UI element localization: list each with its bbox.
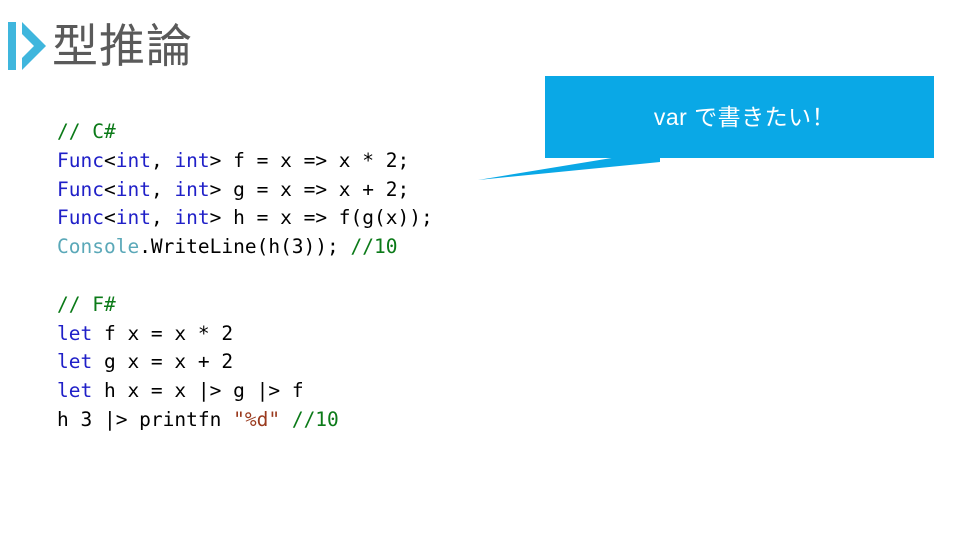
code-line: // F# — [57, 291, 433, 320]
code-token-plain: > f = x => x * 2; — [210, 149, 410, 172]
code-token-plain: > g = x => x + 2; — [210, 178, 410, 201]
callout-bubble: var で書きたい！ — [545, 76, 934, 158]
code-token-type: Func — [57, 206, 104, 229]
code-token-plain: , — [151, 178, 174, 201]
play-chevron-logo-icon — [6, 19, 50, 73]
code-line: let h x = x |> g |> f — [57, 377, 433, 406]
slide-header: 型推論 — [0, 14, 193, 78]
code-token-plain: g x = x + 2 — [92, 350, 233, 373]
code-line: // C# — [57, 118, 433, 147]
code-token-class: Console — [57, 235, 139, 258]
code-token-plain — [280, 408, 292, 431]
code-token-plain: < — [104, 206, 116, 229]
code-block: // C#Func<int, int> f = x => x * 2;Func<… — [57, 118, 433, 435]
code-token-comment: //10 — [292, 408, 339, 431]
code-line: let f x = x * 2 — [57, 320, 433, 349]
code-token-plain: h x = x |> g |> f — [92, 379, 303, 402]
page-title: 型推論 — [52, 19, 193, 73]
code-token-type: Func — [57, 178, 104, 201]
code-token-keyword: let — [57, 379, 92, 402]
code-token-plain: < — [104, 178, 116, 201]
code-token-type: int — [116, 206, 151, 229]
code-line: Func<int, int> f = x => x * 2; — [57, 147, 433, 176]
code-token-string: "%d" — [233, 408, 280, 431]
code-token-type: int — [174, 206, 209, 229]
code-token-plain: < — [104, 149, 116, 172]
code-line: Console.WriteLine(h(3)); //10 — [57, 233, 433, 262]
callout-text: var で書きたい！ — [545, 103, 934, 131]
code-token-type: Func — [57, 149, 104, 172]
code-token-plain: f x = x * 2 — [92, 322, 233, 345]
code-token-plain: , — [151, 206, 174, 229]
code-line: h 3 |> printfn "%d" //10 — [57, 406, 433, 435]
code-token-plain: > h = x => f(g(x)); — [210, 206, 433, 229]
slide-canvas: 型推論 // C#Func<int, int> f = x => x * 2;F… — [0, 0, 960, 540]
code-token-comment: //10 — [351, 235, 398, 258]
code-line: Func<int, int> h = x => f(g(x)); — [57, 204, 433, 233]
code-token-keyword: let — [57, 350, 92, 373]
code-token-plain: , — [151, 149, 174, 172]
code-token-type: int — [174, 149, 209, 172]
code-token-comment: // F# — [57, 293, 116, 316]
code-token-type: int — [116, 149, 151, 172]
code-line: let g x = x + 2 — [57, 348, 433, 377]
code-line: Func<int, int> g = x => x + 2; — [57, 176, 433, 205]
code-token-keyword: let — [57, 322, 92, 345]
code-token-plain: h 3 |> printfn — [57, 408, 233, 431]
code-token-comment: // C# — [57, 120, 116, 143]
code-token-plain: .WriteLine(h(3)); — [139, 235, 350, 258]
code-token-type: int — [116, 178, 151, 201]
code-token-type: int — [174, 178, 209, 201]
code-line — [57, 262, 433, 291]
